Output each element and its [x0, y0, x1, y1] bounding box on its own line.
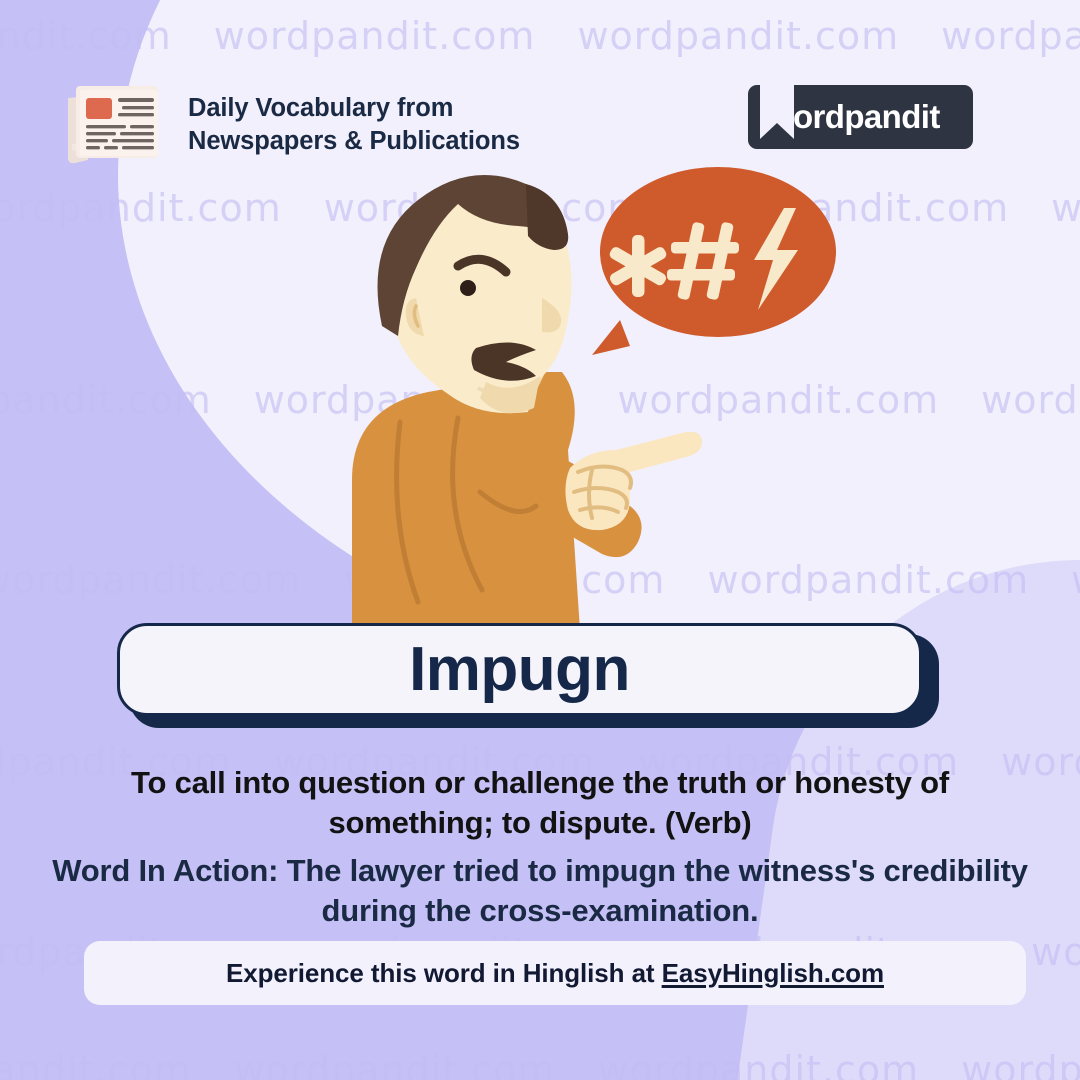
bookmark-w-icon — [760, 83, 794, 139]
word-card-body: Impugn — [117, 623, 922, 716]
word-title: Impugn — [409, 639, 630, 701]
word-card: Impugn — [117, 623, 939, 728]
wordpandit-logo[interactable]: ordpandit — [748, 85, 973, 149]
footer-text: Experience this word in Hinglish at Easy… — [226, 958, 884, 989]
newspaper-icon — [58, 72, 170, 168]
logo-text: ordpandit — [793, 85, 940, 149]
header-title: Daily Vocabulary from Newspapers & Publi… — [188, 92, 520, 157]
definition-text: To call into question or challenge the t… — [50, 763, 1030, 842]
word-in-action-text: Word In Action: The lawyer tried to impu… — [50, 851, 1030, 930]
speech-bubble — [592, 167, 836, 355]
footer-prefix: Experience this word in Hinglish at — [226, 958, 662, 988]
easyhinglish-link[interactable]: EasyHinglish.com — [662, 958, 884, 988]
hinglish-cta-bar[interactable]: Experience this word in Hinglish at Easy… — [84, 941, 1026, 1005]
header-title-line1: Daily Vocabulary from — [188, 92, 520, 125]
angry-man-pointing-illustration — [330, 150, 850, 630]
